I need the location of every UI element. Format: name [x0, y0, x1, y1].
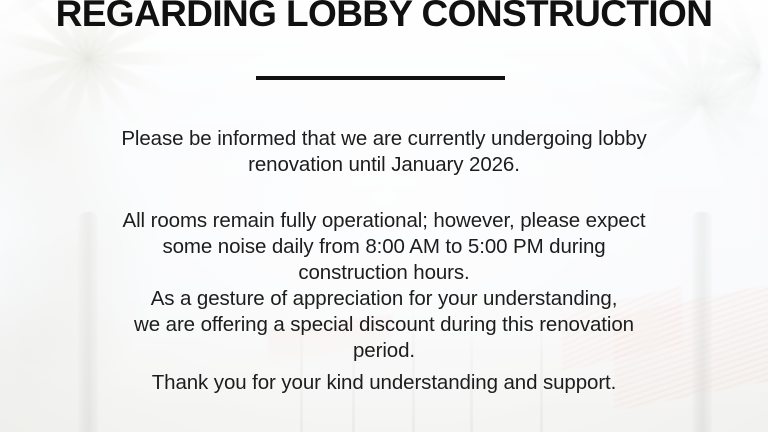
- title-divider: [256, 76, 505, 80]
- closing-line-1: Thank you for your kind understanding an…: [64, 370, 704, 396]
- discount-line-1: As a gesture of appreciation for your un…: [64, 286, 704, 312]
- discount-paragraph: As a gesture of appreciation for your un…: [64, 286, 704, 364]
- page-title: REGARDING LOBBY CONSTRUCTION: [0, 0, 768, 35]
- announcement-poster: REGARDING LOBBY CONSTRUCTION Please be i…: [0, 0, 768, 432]
- operations-line-1: All rooms remain fully operational; howe…: [64, 208, 704, 234]
- operations-line-3: construction hours.: [64, 260, 704, 286]
- closing-paragraph: Thank you for your kind understanding an…: [64, 370, 704, 396]
- operations-line-2: some noise daily from 8:00 AM to 5:00 PM…: [64, 234, 704, 260]
- discount-line-3: period.: [64, 338, 704, 364]
- poster-content: REGARDING LOBBY CONSTRUCTION Please be i…: [0, 0, 768, 432]
- intro-paragraph: Please be informed that we are currently…: [64, 126, 704, 178]
- discount-line-2: we are offering a special discount durin…: [64, 312, 704, 338]
- intro-line-2: renovation until January 2026.: [64, 152, 704, 178]
- operations-paragraph: All rooms remain fully operational; howe…: [64, 208, 704, 286]
- intro-line-1: Please be informed that we are currently…: [64, 126, 704, 152]
